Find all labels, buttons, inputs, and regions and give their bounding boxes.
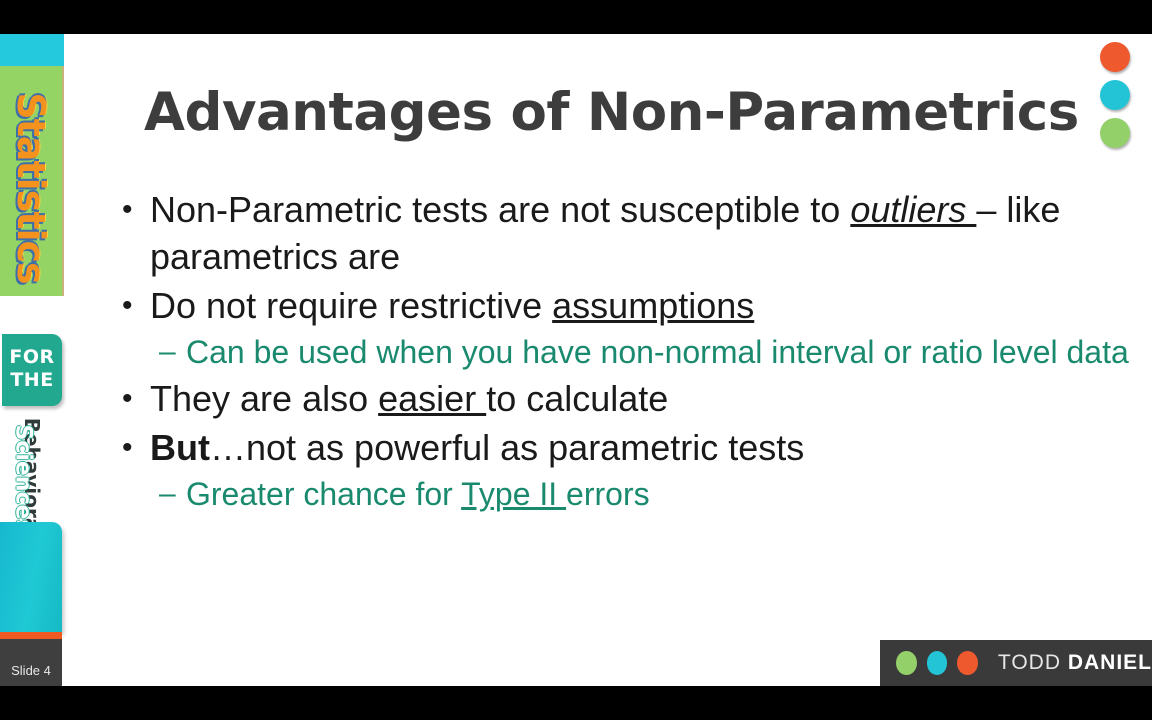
bullet-item-level2: –Greater chance for Type II errors [116, 473, 1136, 515]
author-dot-orange [957, 651, 978, 675]
bullet-item-level1: •They are also easier to calculate [116, 375, 1136, 422]
author-name: TODD DANIEL [998, 651, 1152, 675]
dot-green [1100, 118, 1130, 148]
text-run: …not as powerful as parametric tests [210, 427, 804, 468]
bullet-text: Non-Parametric tests are not susceptible… [150, 189, 1060, 277]
slide-frame: Statistics FOR THE Behavioral Sciences S… [0, 0, 1152, 720]
dot-cyan [1100, 80, 1130, 110]
bullet-text: Do not require restrictive assumptions [150, 285, 754, 326]
dot-orange [1100, 42, 1130, 72]
bullet-item-level1: •But…not as powerful as parametric tests [116, 424, 1136, 471]
decorative-dot-stack [1100, 42, 1140, 156]
text-run: Do not require restrictive [150, 285, 552, 326]
brand-cyan-top-block [0, 34, 64, 66]
text-run: assumptions [552, 285, 754, 326]
bullet-item-level1: •Non-Parametric tests are not susceptibl… [116, 186, 1136, 280]
bullet-marker-dot-icon: • [122, 186, 133, 233]
bullet-marker-dash-icon: – [159, 473, 176, 515]
author-dot-green [896, 651, 917, 675]
text-run: to calculate [486, 378, 668, 419]
text-run: easier [378, 378, 486, 419]
text-run: outliers [850, 189, 976, 230]
bullet-marker-dot-icon: • [122, 282, 133, 329]
bullet-marker-dot-icon: • [122, 424, 133, 471]
brand-strip: Statistics FOR THE Behavioral Sciences S… [0, 34, 64, 686]
brand-cyan-bottom-block [0, 522, 62, 632]
brand-statistics-wordmark: Statistics [9, 73, 53, 303]
brand-orange-rule [0, 632, 62, 639]
bullet-marker-dash-icon: – [159, 331, 176, 373]
slide-content: Advantages of Non-Parametrics •Non-Param… [64, 34, 1152, 686]
text-run: But [150, 427, 210, 468]
slide-canvas: Statistics FOR THE Behavioral Sciences S… [0, 34, 1152, 686]
bullet-text: Greater chance for Type II errors [186, 476, 650, 512]
brand-green-panel: Statistics [0, 66, 64, 296]
brand-for-label: FOR [2, 346, 62, 369]
text-run: errors [566, 476, 650, 512]
brand-the-label: THE [2, 369, 62, 392]
text-run: Type II [461, 476, 566, 512]
author-dot-cyan [927, 651, 948, 675]
text-run: Can be used when you have non-normal int… [186, 334, 1129, 370]
bullet-item-level1: •Do not require restrictive assumptions [116, 282, 1136, 329]
text-run: Greater chance for [186, 476, 461, 512]
bullet-marker-dot-icon: • [122, 375, 133, 422]
slide-number-badge: Slide 4 [0, 639, 62, 686]
bullet-text: Can be used when you have non-normal int… [186, 334, 1129, 370]
page-title: Advantages of Non-Parametrics [144, 82, 1084, 143]
text-run: They are also [150, 378, 378, 419]
author-branding-bar: TODD DANIEL [880, 640, 1152, 686]
bullet-text: They are also easier to calculate [150, 378, 668, 419]
author-last-name: DANIEL [1068, 651, 1152, 674]
brand-for-the-badge: FOR THE [2, 334, 62, 406]
bullet-text: But…not as powerful as parametric tests [150, 427, 804, 468]
bullet-list: •Non-Parametric tests are not susceptibl… [116, 186, 1136, 517]
text-run: Non-Parametric tests are not susceptible… [150, 189, 850, 230]
bullet-item-level2: –Can be used when you have non-normal in… [116, 331, 1136, 373]
author-first-name: TODD [998, 651, 1061, 674]
